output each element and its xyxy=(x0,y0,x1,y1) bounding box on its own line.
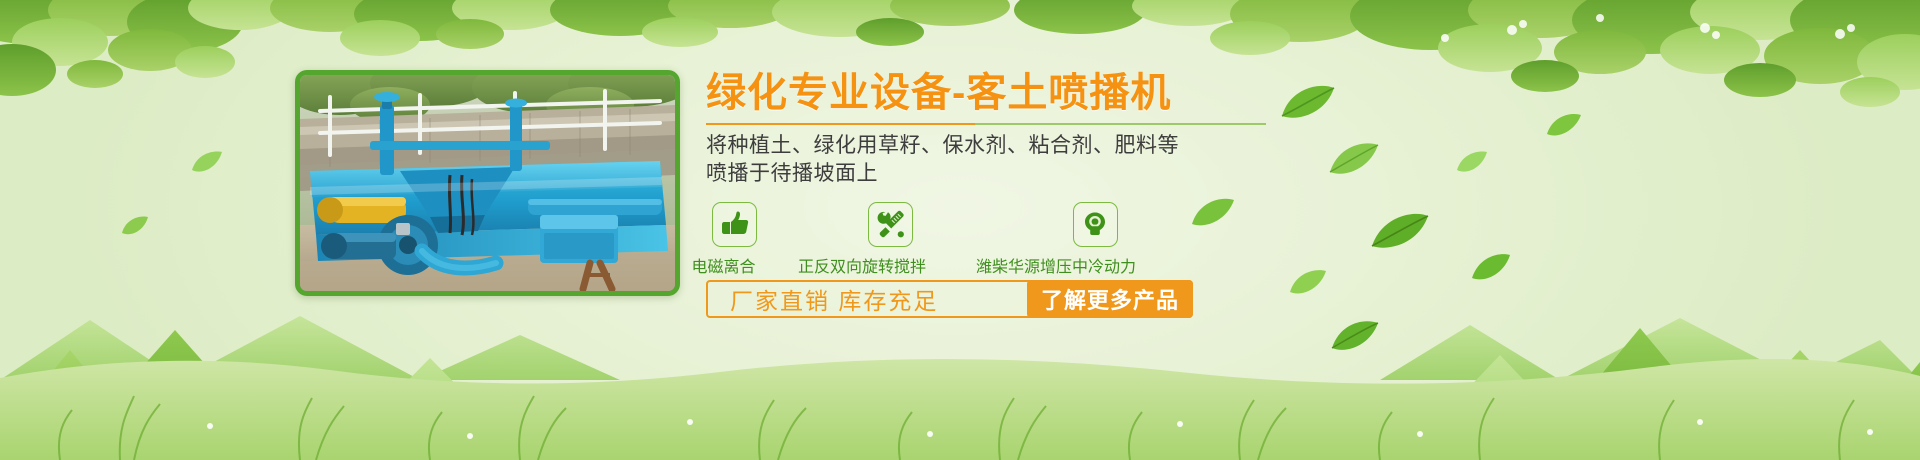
banner-subtitle-line2: 喷播于待播坡面上 xyxy=(706,160,1266,188)
product-photo-frame[interactable] xyxy=(295,70,680,296)
floating-leaf-icon xyxy=(190,150,224,176)
feature-item-bidirectional-mixing[interactable]: 正反双向旋转搅拌 xyxy=(854,202,926,277)
product-photo-svg xyxy=(300,75,675,291)
learn-more-button[interactable]: 了解更多产品 xyxy=(1027,280,1193,318)
floating-leaf-icon xyxy=(1455,150,1489,176)
floating-leaf-icon xyxy=(1280,82,1336,124)
banner-content: 绿化专业设备-客土喷播机 将种植土、绿化用草籽、保水剂、粘合剂、肥料等 喷播于待… xyxy=(706,72,1266,318)
feature-list: 电磁离合 正反双向旋转搅拌 xyxy=(706,202,1266,274)
floating-leaf-icon xyxy=(1328,140,1380,180)
feature-label: 潍柴华源增压中冷动力 xyxy=(976,253,1136,277)
cta-bar: 厂家直销 库存充足 了解更多产品 xyxy=(706,280,1193,318)
title-underline xyxy=(706,123,1266,125)
feature-label: 正反双向旋转搅拌 xyxy=(798,253,926,277)
feature-item-weichai-power[interactable]: 潍柴华源增压中冷动力 xyxy=(1054,202,1136,277)
tools-icon xyxy=(868,202,913,247)
thumbs-up-icon xyxy=(712,202,757,247)
feature-item-electromagnetic-clutch[interactable]: 电磁离合 xyxy=(712,202,757,277)
leaf-icon xyxy=(1073,202,1118,247)
promo-banner: 绿化专业设备-客土喷播机 将种植土、绿化用草籽、保水剂、粘合剂、肥料等 喷播于待… xyxy=(0,0,1920,460)
banner-title: 绿化专业设备-客土喷播机 xyxy=(706,72,1266,115)
cta-slogan: 厂家直销 库存充足 xyxy=(708,282,938,316)
floating-leaf-icon xyxy=(1545,112,1583,140)
feature-label: 电磁离合 xyxy=(690,253,757,277)
banner-subtitle-line1: 将种植土、绿化用草籽、保水剂、粘合剂、肥料等 xyxy=(706,132,1266,160)
product-photo xyxy=(300,75,675,291)
